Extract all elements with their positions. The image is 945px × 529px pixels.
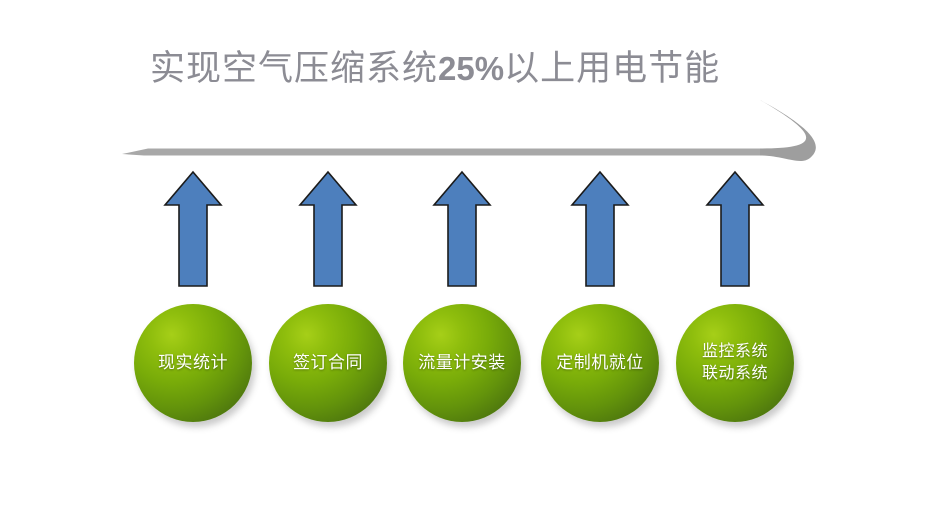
- process-node-label: 监控系统 联动系统: [698, 341, 772, 384]
- process-node-label: 现实统计: [154, 352, 232, 373]
- title-prefix: 实现空气压缩系统: [150, 49, 438, 88]
- process-node-label: 流量计安装: [414, 352, 510, 373]
- arrow-up-2: [298, 170, 358, 288]
- process-node-2[interactable]: 签订合同: [269, 304, 387, 422]
- arrow-up-4: [570, 170, 630, 288]
- process-node-1[interactable]: 现实统计: [134, 304, 252, 422]
- slide-canvas: 实现空气压缩系统25%以上用电节能 现实统计签订合同流量计安装定制机就位监控系统…: [0, 0, 945, 529]
- title-percent: 25%: [438, 50, 504, 87]
- process-node-3[interactable]: 流量计安装: [403, 304, 521, 422]
- process-node-label: 签订合同: [289, 352, 367, 373]
- arrow-up-1: [163, 170, 223, 288]
- title-block: 实现空气压缩系统25%以上用电节能: [0, 38, 945, 138]
- arrow-up-3: [432, 170, 492, 288]
- title-suffix: 以上用电节能: [504, 49, 720, 88]
- page-title: 实现空气压缩系统25%以上用电节能: [150, 38, 750, 100]
- process-node-5[interactable]: 监控系统 联动系统: [676, 304, 794, 422]
- process-node-label: 定制机就位: [552, 352, 648, 373]
- process-node-4[interactable]: 定制机就位: [541, 304, 659, 422]
- arrow-up-5: [705, 170, 765, 288]
